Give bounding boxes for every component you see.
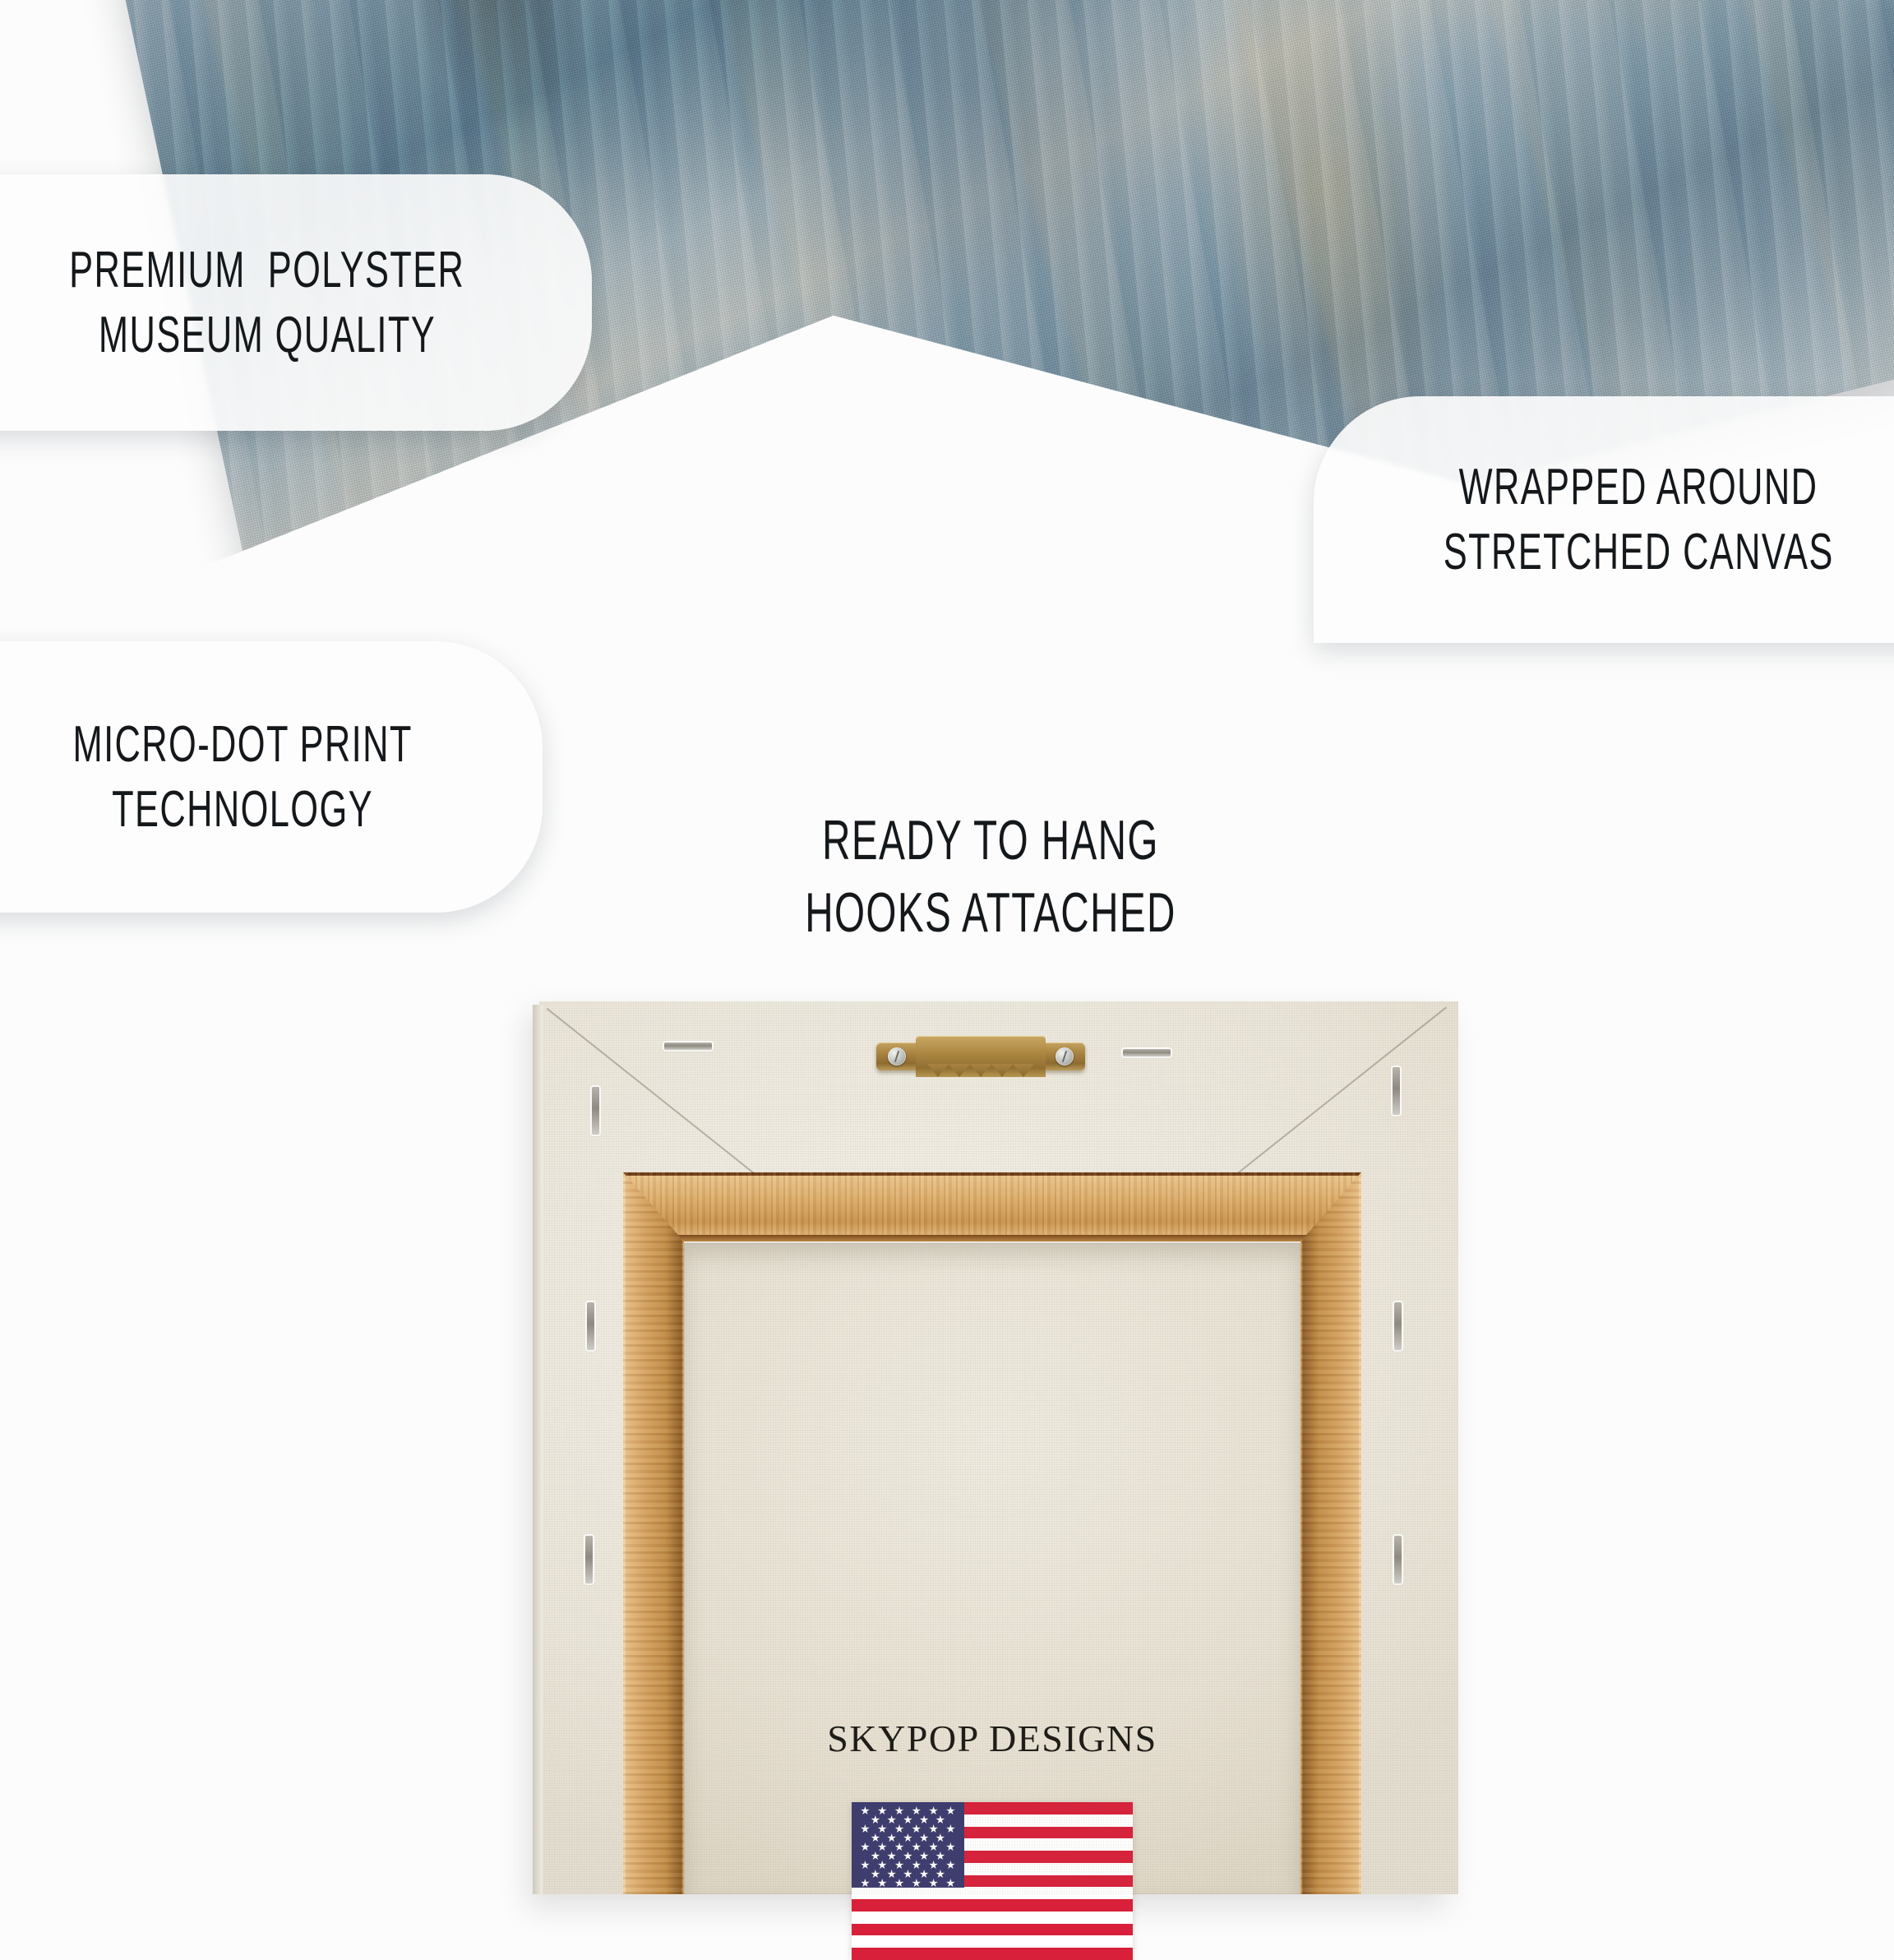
stretcher-bar-right	[1300, 1172, 1361, 1894]
hanger-screw-right	[1056, 1047, 1074, 1066]
wooden-stretcher-frame: SKYPOP DESIGNS	[623, 1172, 1361, 1894]
flag-stripes	[852, 1802, 1133, 1960]
heading-line-1: READY TO HANG	[695, 804, 1287, 876]
stretcher-bar-top	[623, 1172, 1361, 1241]
hanger-body	[916, 1036, 1046, 1077]
badge-line-2: TECHNOLOGY	[112, 777, 373, 842]
ready-to-hang-heading: READY TO HANG HOOKS ATTACHED	[567, 804, 1414, 950]
staple	[587, 1302, 594, 1350]
badge-line-1: WRAPPED AROUND	[1459, 455, 1818, 520]
canvas-back-view: SKYPOP DESIGNS	[533, 996, 1465, 1894]
heading-line-2: HOOKS ATTACHED	[695, 876, 1287, 949]
staple	[592, 1087, 599, 1135]
hanger-tooth	[991, 1064, 1013, 1077]
staple	[585, 1536, 593, 1583]
staple	[1394, 1536, 1402, 1583]
stretcher-bar-left	[623, 1172, 684, 1894]
us-flag	[852, 1802, 1133, 1960]
staple	[1123, 1049, 1171, 1056]
badge-line-1: PREMIUM POLYSTER	[69, 238, 464, 303]
flag-canton	[852, 1802, 964, 1888]
staple	[1393, 1067, 1400, 1115]
staple	[664, 1042, 712, 1050]
hanger-tooth	[927, 1064, 949, 1077]
badge-line-2: MUSEUM QUALITY	[99, 303, 436, 367]
hanger-tooth	[970, 1064, 991, 1077]
brand-label: SKYPOP DESIGNS	[684, 1717, 1300, 1760]
badge-line-1: MICRO-DOT PRINT	[72, 712, 412, 777]
hanger-screw-left	[888, 1047, 906, 1066]
staple	[1394, 1302, 1402, 1350]
feature-badge-premium-polyster: PREMIUM POLYSTER MUSEUM QUALITY	[0, 174, 592, 431]
stretcher-bar-top-bevel	[623, 1235, 1361, 1243]
badge-line-2: STRETCHED CANVAS	[1444, 520, 1834, 585]
hanger-tooth	[1013, 1064, 1034, 1077]
hanger-tooth	[949, 1064, 970, 1077]
feature-badge-micro-dot-print: MICRO-DOT PRINT TECHNOLOGY	[0, 641, 543, 913]
feature-badge-wrapped-around: WRAPPED AROUND STRETCHED CANVAS	[1314, 396, 1894, 643]
sawtooth-hanger	[876, 1034, 1085, 1085]
canvas-board-left-edge	[533, 1005, 543, 1894]
canvas-inner-face: SKYPOP DESIGNS	[684, 1243, 1300, 1894]
infographic-stage: PREMIUM POLYSTER MUSEUM QUALITY WRAPPED …	[0, 0, 1894, 1894]
